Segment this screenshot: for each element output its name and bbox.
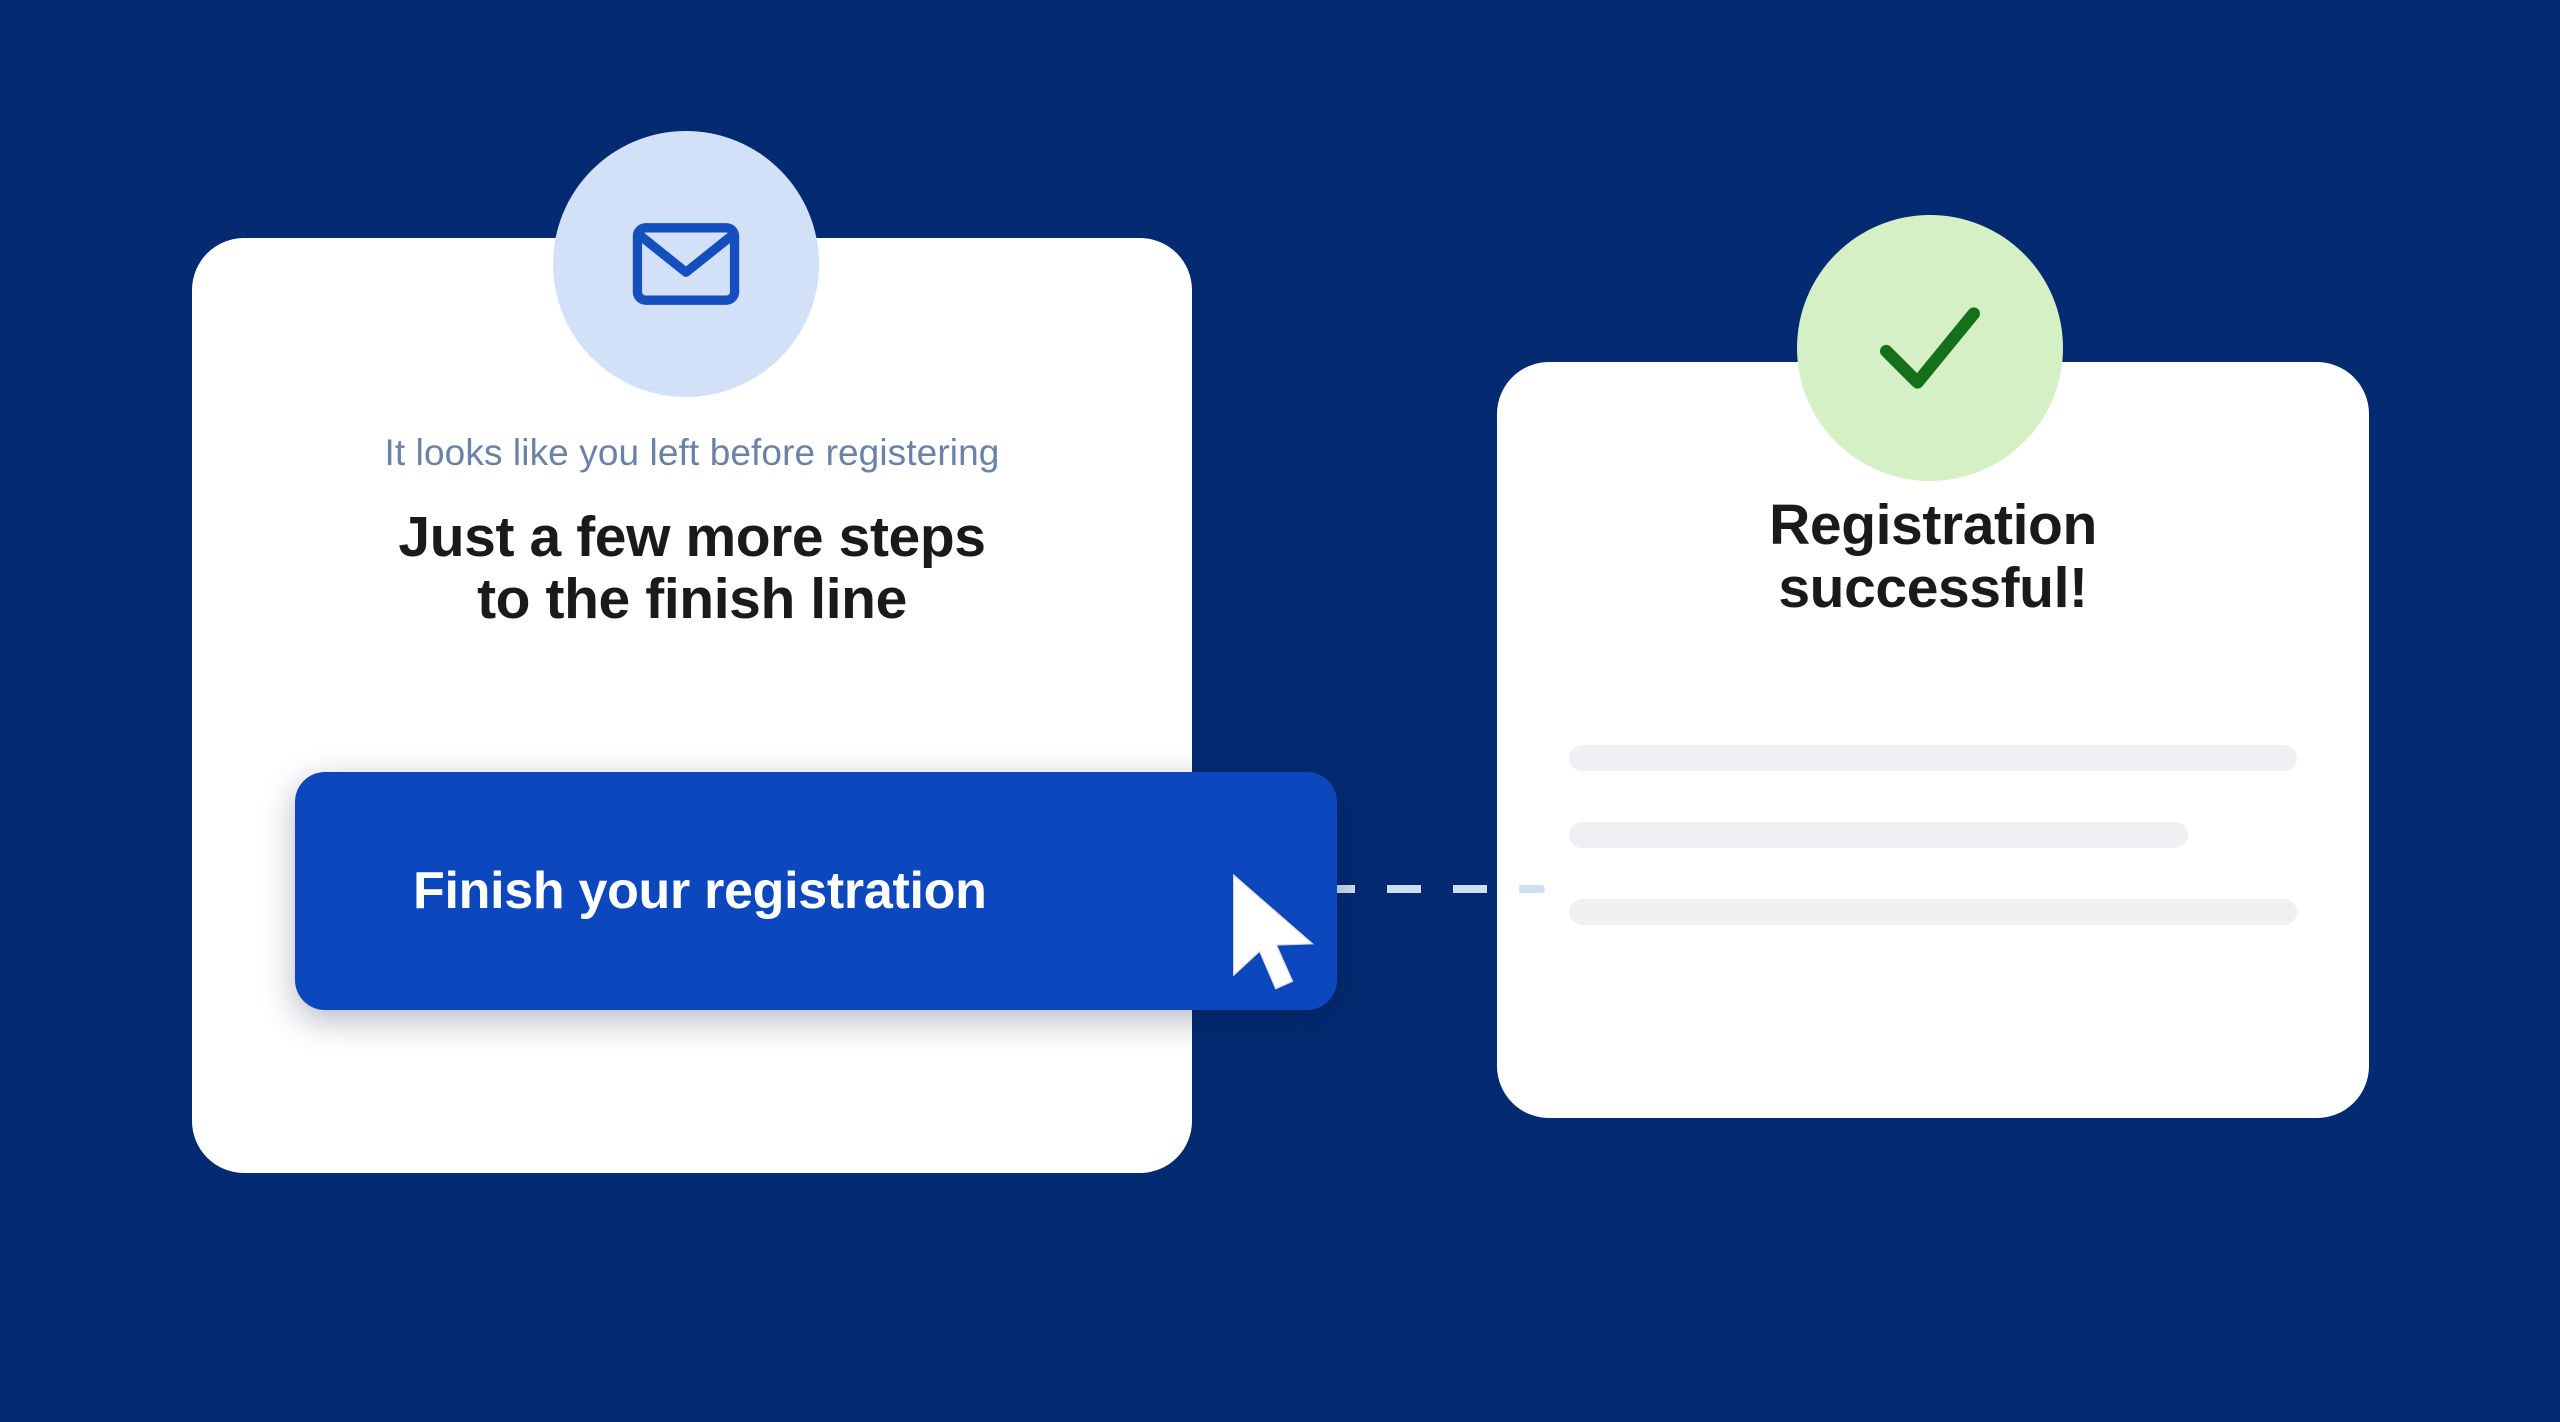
success-badge [1797, 215, 2063, 481]
success-headline-line-2: successful! [1778, 556, 2087, 620]
finish-registration-button[interactable]: Finish your registration [295, 772, 1337, 1010]
mail-badge [553, 131, 819, 397]
success-headline-line-1: Registration [1769, 493, 2097, 557]
mail-icon [624, 202, 748, 326]
illustration-canvas: Registration successful! It looks like y… [0, 0, 2560, 1422]
reminder-headline-line-2: to the finish line [477, 567, 907, 631]
reminder-eyebrow: It looks like you left before registerin… [232, 428, 1152, 478]
placeholder-line [1569, 899, 2297, 925]
reminder-headline: Just a few more steps to the finish line [232, 506, 1152, 630]
reminder-headline-line-1: Just a few more steps [398, 505, 985, 569]
placeholder-line [1569, 822, 2188, 848]
placeholder-line [1569, 745, 2297, 771]
success-headline: Registration successful! [1561, 494, 2305, 619]
check-icon [1855, 273, 2005, 423]
placeholder-lines [1561, 745, 2305, 925]
